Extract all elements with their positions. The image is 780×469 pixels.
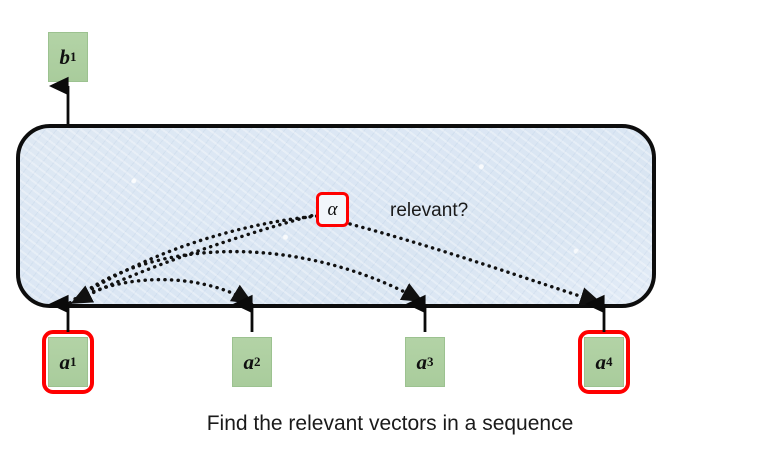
input-vector-a1: a1 [48, 337, 88, 387]
input-vector-a3-superscript: 3 [427, 354, 434, 370]
output-vector-b1: b1 [48, 32, 88, 82]
alpha-token: α [316, 192, 349, 227]
diagram-caption: Find the relevant vectors in a sequence [0, 412, 780, 436]
input-vector-a1-superscript: 1 [70, 354, 77, 370]
input-vector-a4: a4 [584, 337, 624, 387]
relevant-question-label: relevant? [390, 200, 468, 222]
input-vector-a3: a3 [405, 337, 445, 387]
input-vector-a4-label: a [596, 350, 607, 375]
input-vector-a2: a2 [232, 337, 272, 387]
output-vector-label: b [60, 45, 71, 70]
input-vector-a2-superscript: 2 [254, 354, 261, 370]
output-vector-superscript: 1 [70, 49, 77, 65]
input-vector-a3-label: a [417, 350, 428, 375]
input-vector-a4-superscript: 4 [606, 354, 613, 370]
input-vector-a1-label: a [60, 350, 71, 375]
diagram-canvas: b1 α relevant? [0, 0, 780, 469]
input-vector-a2-label: a [244, 350, 255, 375]
alpha-symbol: α [328, 199, 338, 221]
